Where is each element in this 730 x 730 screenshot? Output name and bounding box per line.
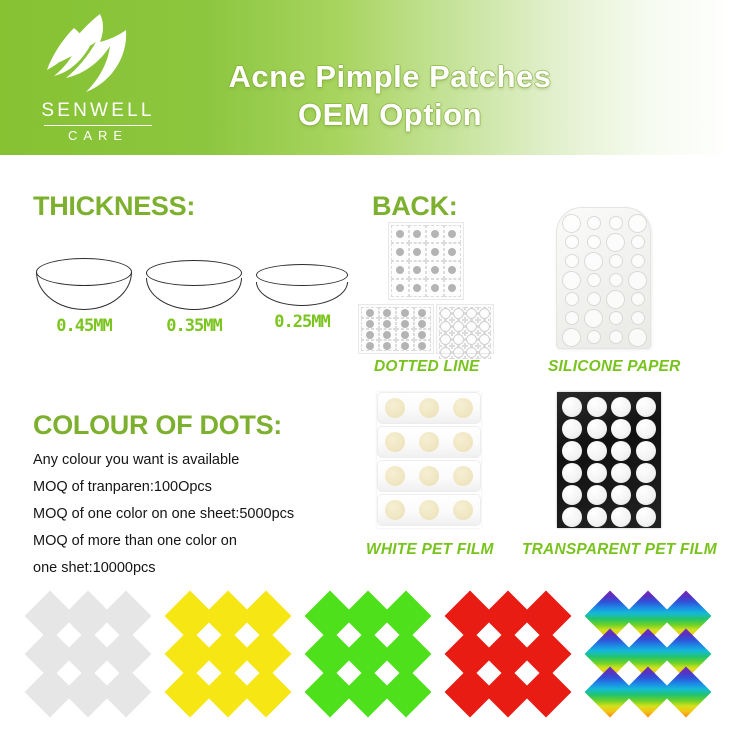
silicone-circle bbox=[562, 214, 581, 233]
patch-cell bbox=[391, 279, 409, 297]
colour-description: Any colour you want is available MOQ of … bbox=[33, 452, 363, 587]
white-pet-dot bbox=[453, 466, 473, 486]
patch-cell bbox=[361, 318, 379, 329]
patch-cell bbox=[439, 307, 452, 320]
patch-cell bbox=[379, 329, 397, 340]
patch-cell bbox=[361, 340, 379, 351]
silicone-circle bbox=[631, 254, 645, 268]
patch-cell bbox=[379, 340, 397, 351]
patch-cell bbox=[396, 307, 414, 318]
title-line-2: OEM Option bbox=[150, 96, 630, 134]
page-title: Acne Pimple Patches OEM Option bbox=[150, 58, 630, 134]
silicone-circle bbox=[584, 252, 603, 271]
patch-cell bbox=[391, 261, 409, 279]
patch-cell bbox=[391, 243, 409, 261]
transparent-pet-dot bbox=[587, 507, 607, 527]
silicone-circle bbox=[562, 328, 581, 347]
silicone-circle bbox=[609, 254, 623, 268]
silicone-circle bbox=[631, 311, 645, 325]
thickness-item-2: 0.25MM bbox=[246, 264, 358, 332]
silicone-circle bbox=[587, 273, 601, 287]
swatch-red bbox=[448, 596, 560, 708]
silicone-circle bbox=[587, 330, 601, 344]
transparent-pet-film-photo bbox=[557, 392, 661, 528]
silicone-circle bbox=[609, 216, 623, 230]
silicone-circle bbox=[609, 330, 623, 344]
patch-sheet-top bbox=[388, 222, 464, 300]
white-pet-strip bbox=[377, 494, 481, 526]
patch-cell bbox=[426, 225, 444, 243]
transparent-pet-dot bbox=[611, 397, 631, 417]
transparent-pet-dot bbox=[611, 485, 631, 505]
heading-colour-of-dots: COLOUR OF DOTS: bbox=[33, 410, 282, 441]
swatch-green bbox=[308, 596, 420, 708]
patch-cell bbox=[361, 307, 379, 318]
heading-back: BACK: bbox=[372, 191, 458, 222]
white-pet-dot bbox=[419, 432, 439, 452]
silicone-circle bbox=[628, 328, 647, 347]
transparent-pet-dot bbox=[562, 463, 582, 483]
patch-cell bbox=[361, 329, 379, 340]
transparent-pet-dot bbox=[636, 441, 656, 461]
white-pet-dot bbox=[385, 466, 405, 486]
thickness-label-2: 0.25MM bbox=[246, 312, 358, 332]
patch-cell bbox=[414, 307, 432, 318]
transparent-pet-dot bbox=[636, 397, 656, 417]
colour-line-4: one shet:10000pcs bbox=[33, 560, 363, 577]
product-infographic: SENWELL CARE Acne Pimple Patches OEM Opt… bbox=[0, 0, 730, 730]
white-pet-strip bbox=[377, 392, 481, 424]
silicone-circle bbox=[609, 273, 623, 287]
colour-line-0: Any colour you want is available bbox=[33, 452, 363, 469]
transparent-pet-dot bbox=[587, 485, 607, 505]
colour-line-2: MOQ of one color on one sheet:5000pcs bbox=[33, 506, 363, 523]
silicone-circle bbox=[565, 254, 579, 268]
transparent-pet-dot bbox=[587, 397, 607, 417]
patch-cell bbox=[426, 243, 444, 261]
patch-cell bbox=[444, 279, 462, 297]
white-pet-film-photo bbox=[377, 392, 481, 528]
label-transparent-pet-film: TRANSPARENT PET FILM bbox=[522, 541, 717, 559]
transparent-pet-dot bbox=[587, 463, 607, 483]
transparent-pet-dot bbox=[636, 507, 656, 527]
logo-divider bbox=[44, 125, 152, 126]
silicone-circle bbox=[628, 214, 647, 233]
patch-cell bbox=[396, 340, 414, 351]
white-pet-dot bbox=[419, 466, 439, 486]
swatch-diamond bbox=[521, 667, 572, 718]
patch-sheet-right bbox=[436, 304, 494, 354]
white-pet-dot bbox=[453, 432, 473, 452]
label-silicone-paper: SILICONE PAPER bbox=[548, 358, 681, 376]
transparent-pet-dot bbox=[562, 441, 582, 461]
white-pet-dot bbox=[419, 500, 439, 520]
patch-cell bbox=[409, 279, 427, 297]
transparent-pet-dot bbox=[636, 485, 656, 505]
patch-cell bbox=[465, 333, 478, 346]
heading-thickness: THICKNESS: bbox=[33, 191, 195, 222]
white-pet-dot bbox=[385, 432, 405, 452]
silicone-circle bbox=[587, 216, 601, 230]
patch-cell bbox=[391, 225, 409, 243]
transparent-pet-dot bbox=[562, 507, 582, 527]
thickness-disc-row: 0.45MM 0.35MM 0.25MM bbox=[28, 258, 358, 348]
swatch-rainbow bbox=[588, 596, 700, 708]
thickness-label-1: 0.35MM bbox=[138, 316, 250, 336]
patch-cell bbox=[379, 307, 397, 318]
transparent-pet-dot bbox=[611, 463, 631, 483]
title-line-1: Acne Pimple Patches bbox=[150, 58, 630, 96]
silicone-circle bbox=[606, 233, 625, 252]
transparent-pet-dot bbox=[611, 441, 631, 461]
patch-cell bbox=[414, 329, 432, 340]
transparent-pet-dot bbox=[636, 419, 656, 439]
patch-cell bbox=[452, 320, 465, 333]
transparent-pet-dot bbox=[587, 419, 607, 439]
patch-cell bbox=[426, 279, 444, 297]
label-white-pet-film: WHITE PET FILM bbox=[366, 541, 494, 559]
patch-cell bbox=[409, 261, 427, 279]
patch-cell bbox=[465, 320, 478, 333]
swatch-white-transparent bbox=[28, 596, 140, 708]
silicone-circle bbox=[562, 271, 581, 290]
silicone-circle bbox=[631, 292, 645, 306]
patch-cell bbox=[452, 333, 465, 346]
white-pet-dot bbox=[385, 398, 405, 418]
patch-cell bbox=[396, 329, 414, 340]
white-pet-dot bbox=[385, 500, 405, 520]
patch-cell bbox=[414, 318, 432, 329]
white-pet-dot bbox=[453, 398, 473, 418]
patch-cell bbox=[379, 318, 397, 329]
transparent-pet-dot bbox=[562, 485, 582, 505]
thickness-label-0: 0.45MM bbox=[28, 316, 140, 336]
colour-line-1: MOQ of tranparen:100Opcs bbox=[33, 479, 363, 496]
patch-cell bbox=[439, 333, 452, 346]
transparent-pet-dot bbox=[562, 397, 582, 417]
patch-cell bbox=[444, 261, 462, 279]
silicone-circle bbox=[565, 235, 579, 249]
patch-cell bbox=[478, 307, 491, 320]
patch-cell bbox=[452, 307, 465, 320]
white-pet-dot bbox=[453, 500, 473, 520]
swatch-diamond bbox=[101, 667, 152, 718]
patch-cell bbox=[409, 243, 427, 261]
silicone-circle bbox=[631, 235, 645, 249]
silicone-circle bbox=[609, 311, 623, 325]
patch-cell bbox=[426, 261, 444, 279]
disc-shape-0 bbox=[36, 258, 132, 310]
leaf-flame-icon bbox=[38, 12, 148, 98]
transparent-pet-dot bbox=[611, 507, 631, 527]
label-dotted-line: DOTTED LINE bbox=[374, 358, 480, 376]
dotted-line-photo bbox=[358, 222, 498, 350]
silicone-circle bbox=[587, 235, 601, 249]
silicone-circle bbox=[606, 290, 625, 309]
silicone-circle bbox=[584, 309, 603, 328]
colour-line-3: MOQ of more than one color on bbox=[33, 533, 363, 550]
patch-cell bbox=[409, 225, 427, 243]
silicone-circle bbox=[587, 292, 601, 306]
disc-shape-1 bbox=[146, 260, 242, 310]
silicone-paper-photo bbox=[556, 207, 651, 349]
patch-sheet-left bbox=[358, 304, 434, 354]
header-banner: SENWELL CARE Acne Pimple Patches OEM Opt… bbox=[0, 0, 730, 155]
silicone-circle bbox=[628, 271, 647, 290]
patch-cell bbox=[478, 333, 491, 346]
transparent-pet-dot bbox=[636, 463, 656, 483]
thickness-item-0: 0.45MM bbox=[28, 258, 140, 336]
patch-cell bbox=[396, 318, 414, 329]
thickness-item-1: 0.35MM bbox=[138, 260, 250, 336]
transparent-pet-dot bbox=[611, 419, 631, 439]
transparent-pet-dot bbox=[587, 441, 607, 461]
silicone-circle bbox=[565, 292, 579, 306]
patch-cell bbox=[465, 307, 478, 320]
white-pet-strip bbox=[377, 460, 481, 492]
patch-cell bbox=[444, 225, 462, 243]
swatch-yellow bbox=[168, 596, 280, 708]
patch-cell bbox=[444, 243, 462, 261]
transparent-pet-dot bbox=[562, 419, 582, 439]
swatch-diamond bbox=[241, 667, 292, 718]
white-pet-strip bbox=[377, 426, 481, 458]
disc-shape-2 bbox=[256, 264, 348, 306]
patch-cell bbox=[414, 340, 432, 351]
swatch-diamond bbox=[661, 667, 712, 718]
swatch-diamond bbox=[381, 667, 432, 718]
patch-cell bbox=[439, 320, 452, 333]
white-pet-dot bbox=[419, 398, 439, 418]
patch-cell bbox=[478, 320, 491, 333]
silicone-circle bbox=[565, 311, 579, 325]
